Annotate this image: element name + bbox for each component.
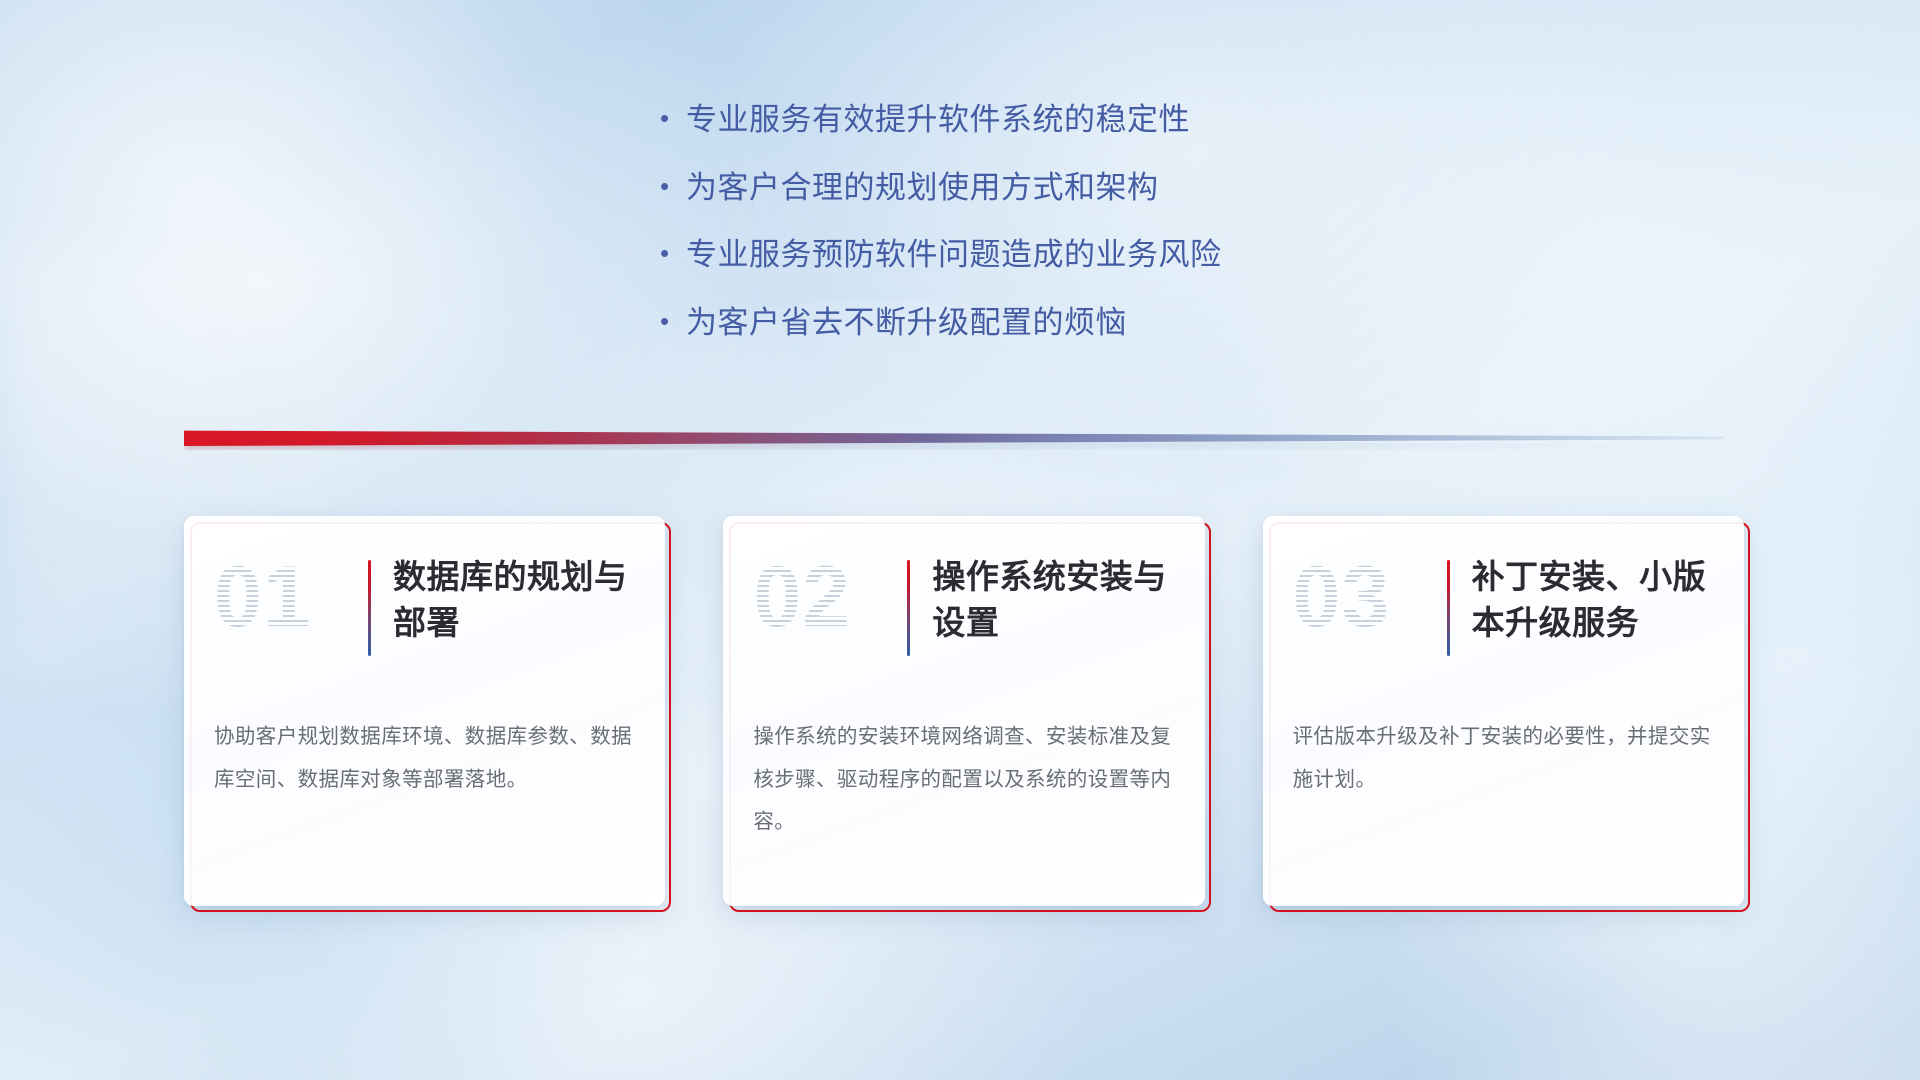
background-glow-top-left xyxy=(0,0,580,550)
service-card-row: 01 数据库的规划与部署 协助客户规划数据库环境、数据库参数、数据库空间、数据库… xyxy=(184,516,1744,906)
card-number: 03 xyxy=(1293,550,1443,642)
card-description: 协助客户规划数据库环境、数据库参数、数据库空间、数据库对象等部署落地。 xyxy=(214,716,635,801)
list-item: • 为客户省去不断升级配置的烦恼 xyxy=(660,303,1420,343)
card-title: 数据库的规划与部署 xyxy=(393,550,635,645)
card-divider-bar xyxy=(368,560,371,656)
bullet-text: 专业服务有效提升软件系统的稳定性 xyxy=(686,100,1190,140)
card-divider-bar xyxy=(1447,560,1450,656)
card-title: 操作系统安装与设置 xyxy=(932,550,1174,645)
bullet-marker-icon: • xyxy=(660,105,686,131)
card-description: 评估版本升级及补丁安装的必要性，并提交实施计划。 xyxy=(1293,716,1714,801)
card-header: 01 数据库的规划与部署 xyxy=(214,550,635,682)
service-card-02[interactable]: 02 操作系统安装与设置 操作系统的安装环境网络调查、安装标准及复核步骤、驱动程… xyxy=(723,516,1204,906)
card-header: 03 补丁安装、小版本升级服务 xyxy=(1293,550,1714,682)
card-header: 02 操作系统安装与设置 xyxy=(753,550,1174,682)
section-divider xyxy=(184,424,1724,446)
service-card-01[interactable]: 01 数据库的规划与部署 协助客户规划数据库环境、数据库参数、数据库空间、数据库… xyxy=(184,516,665,906)
benefits-bullet-list: • 专业服务有效提升软件系统的稳定性 • 为客户合理的规划使用方式和架构 • 专… xyxy=(660,100,1420,371)
bullet-marker-icon: • xyxy=(660,173,686,199)
list-item: • 专业服务预防软件问题造成的业务风险 xyxy=(660,235,1420,275)
bullet-text: 为客户省去不断升级配置的烦恼 xyxy=(686,303,1127,343)
bullet-marker-icon: • xyxy=(660,240,686,266)
card-content: 01 数据库的规划与部署 协助客户规划数据库环境、数据库参数、数据库空间、数据库… xyxy=(184,516,665,906)
bullet-marker-icon: • xyxy=(660,308,686,334)
card-content: 02 操作系统安装与设置 操作系统的安装环境网络调查、安装标准及复核步骤、驱动程… xyxy=(723,516,1204,906)
service-card-03[interactable]: 03 补丁安装、小版本升级服务 评估版本升级及补丁安装的必要性，并提交实施计划。 xyxy=(1263,516,1744,906)
list-item: • 专业服务有效提升软件系统的稳定性 xyxy=(660,100,1420,140)
card-description: 操作系统的安装环境网络调查、安装标准及复核步骤、驱动程序的配置以及系统的设置等内… xyxy=(753,716,1174,844)
card-number: 02 xyxy=(753,550,903,642)
list-item: • 为客户合理的规划使用方式和架构 xyxy=(660,168,1420,208)
bullet-text: 为客户合理的规划使用方式和架构 xyxy=(686,168,1159,208)
card-title: 补丁安装、小版本升级服务 xyxy=(1472,550,1714,645)
card-content: 03 补丁安装、小版本升级服务 评估版本升级及补丁安装的必要性，并提交实施计划。 xyxy=(1263,516,1744,906)
card-divider-bar xyxy=(907,560,910,656)
bullet-text: 专业服务预防软件问题造成的业务风险 xyxy=(686,235,1222,275)
card-number: 01 xyxy=(214,550,364,642)
